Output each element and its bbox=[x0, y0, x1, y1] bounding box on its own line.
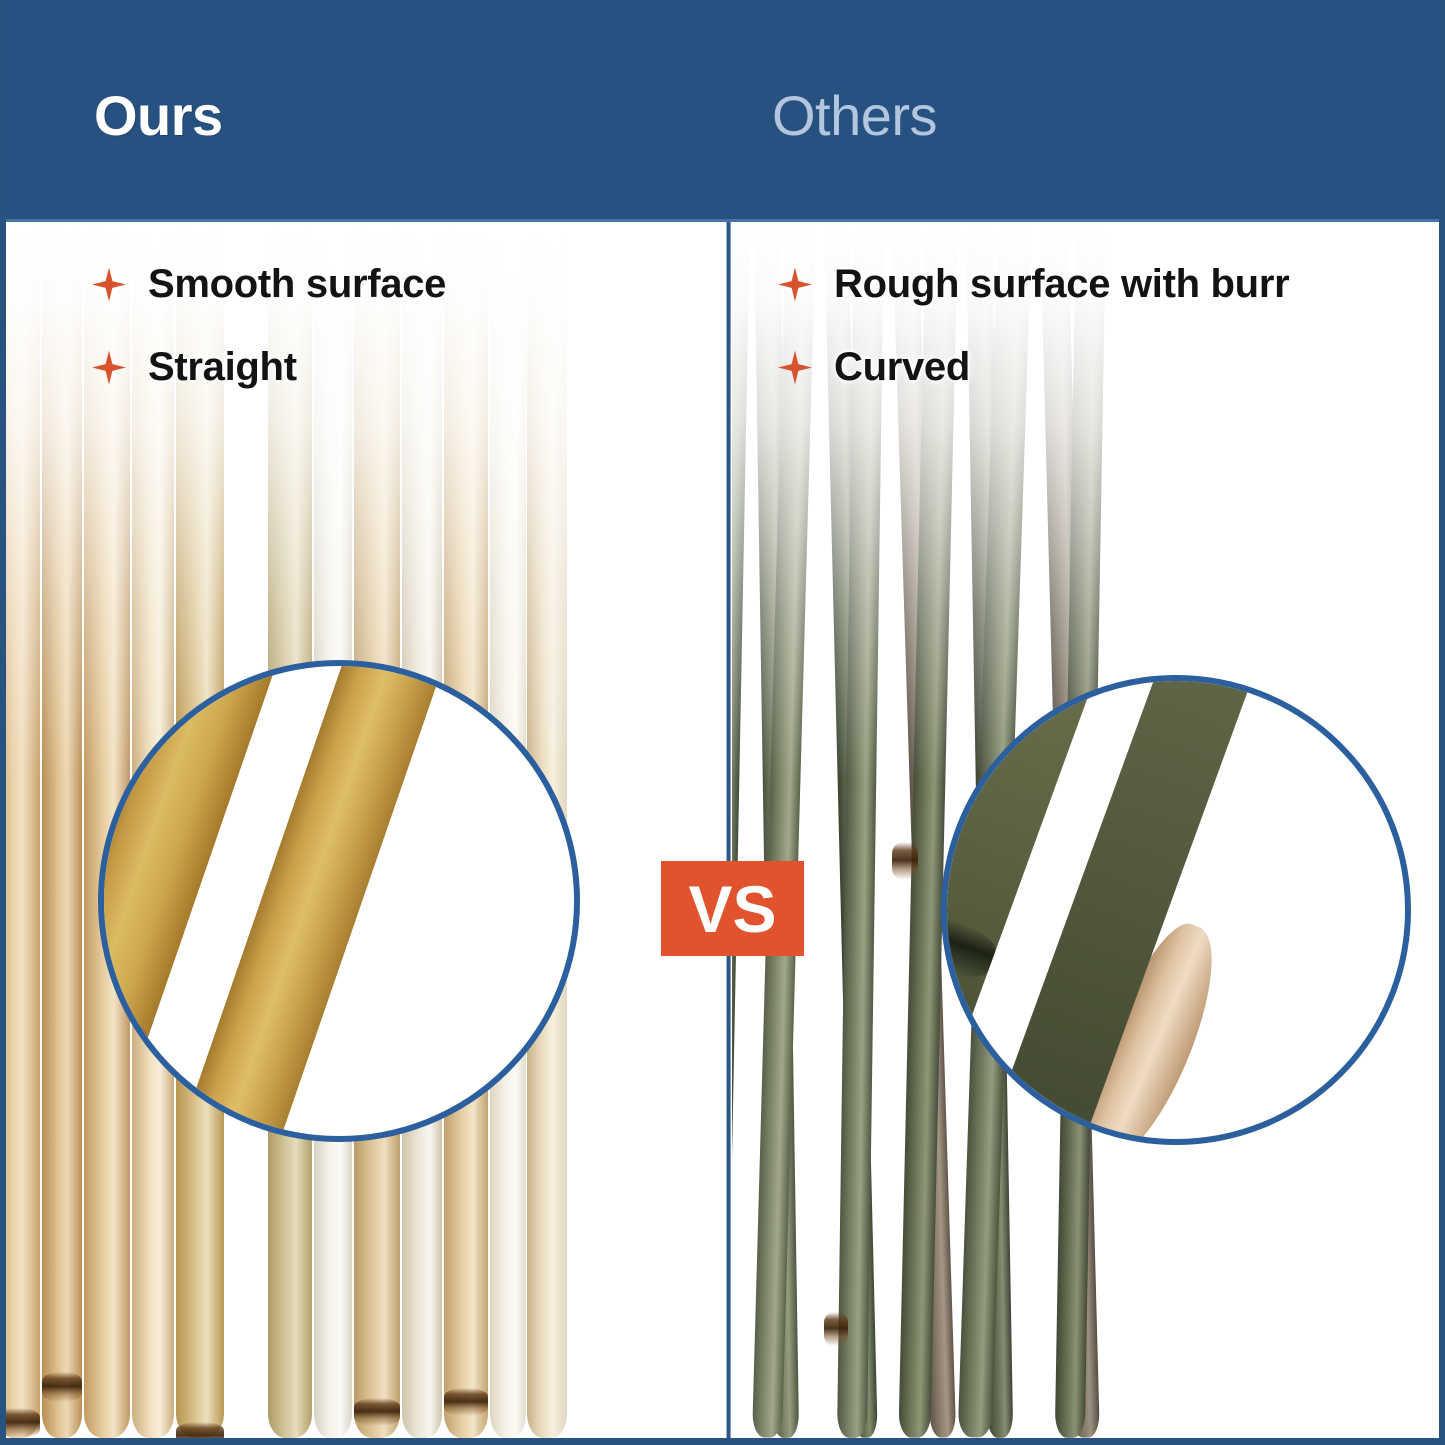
feature-label: Curved bbox=[834, 345, 970, 390]
sparkle-icon bbox=[92, 351, 126, 385]
feature-label: Straight bbox=[148, 345, 297, 390]
magnifier-content-ours bbox=[98, 660, 580, 1142]
header-title-others: Others bbox=[772, 88, 937, 144]
vs-badge: VS bbox=[661, 861, 804, 956]
comparison-graphic: Ours Others bbox=[0, 0, 1445, 1445]
sparkle-icon bbox=[92, 268, 126, 302]
header-title-ours: Ours bbox=[94, 88, 223, 144]
feature-label: Rough surface with burr bbox=[834, 262, 1289, 307]
vs-label: VS bbox=[688, 876, 776, 942]
magnifier-circle-ours bbox=[98, 660, 580, 1142]
list-item: Rough surface with burr bbox=[778, 262, 1289, 307]
header-bar: Ours Others bbox=[6, 0, 1445, 222]
magnifier-content-others bbox=[941, 675, 1411, 1145]
feature-list-ours: Smooth surface Straight bbox=[92, 262, 446, 428]
list-item: Smooth surface bbox=[92, 262, 446, 307]
feature-label: Smooth surface bbox=[148, 262, 446, 307]
feature-list-others: Rough surface with burr Curved bbox=[778, 262, 1289, 428]
sparkle-icon bbox=[778, 351, 812, 385]
sparkle-icon bbox=[778, 268, 812, 302]
list-item: Curved bbox=[778, 345, 1289, 390]
panel-divider bbox=[725, 222, 732, 1438]
list-item: Straight bbox=[92, 345, 446, 390]
magnifier-circle-others bbox=[941, 675, 1411, 1145]
